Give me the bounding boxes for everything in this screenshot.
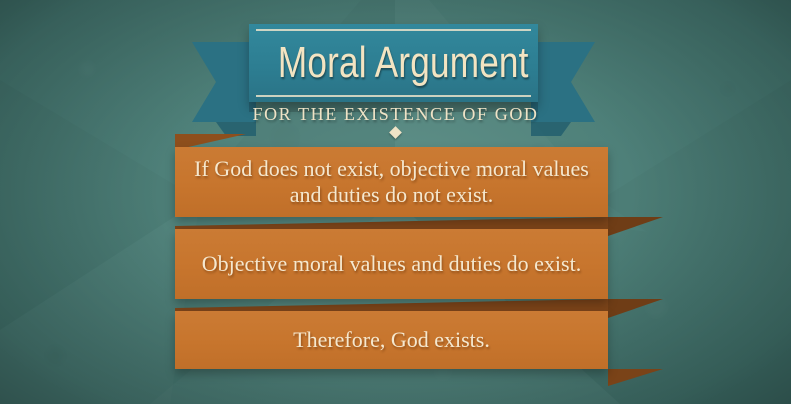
subtitle: FOR THE EXISTENCE OF GOD — [0, 104, 791, 125]
conclusion-text: Therefore, God exists. — [275, 327, 508, 353]
page-title: Moral Argument — [278, 41, 509, 85]
premise-2-banner[interactable]: Objective moral values and duties do exi… — [175, 229, 608, 299]
premise-1-banner[interactable]: If God does not exist, objective moral v… — [175, 147, 608, 217]
premise-2-text: Objective moral values and duties do exi… — [184, 251, 599, 277]
conclusion-banner[interactable]: Therefore, God exists. — [175, 311, 608, 369]
slide-canvas: Moral Argument FOR THE EXISTENCE OF GOD … — [0, 0, 791, 404]
title-ribbon: Moral Argument FOR THE EXISTENCE OF GOD — [0, 0, 791, 150]
premise-1-text: If God does not exist, objective moral v… — [175, 156, 608, 207]
title-panel: Moral Argument — [249, 24, 538, 102]
